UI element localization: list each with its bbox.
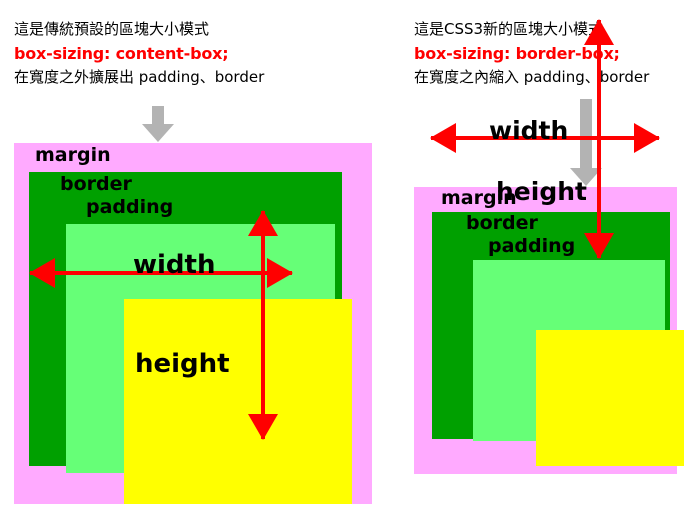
content-area xyxy=(124,299,352,504)
border-area xyxy=(29,172,342,466)
arrow-head-right xyxy=(634,123,660,153)
padding-area xyxy=(473,260,665,441)
arrow-head-left xyxy=(430,123,456,153)
padding-label: padding xyxy=(488,237,575,256)
caption-line-3: 在寬度之外擴展出 padding、border xyxy=(14,66,264,89)
border-box-panel: 這是CSS3新的區塊大小模式 box-sizing: border-box; 在… xyxy=(400,0,700,514)
content-box-panel: 這是傳統預設的區塊大小模式 box-sizing: content-box; 在… xyxy=(0,0,400,514)
width-label: width xyxy=(133,250,215,280)
margin-label: margin xyxy=(35,146,111,165)
arrow-head-down xyxy=(248,414,278,440)
caption-line-1: 這是傳統預設的區塊大小模式 xyxy=(14,18,264,41)
border-label: border xyxy=(466,214,538,233)
arrow-line xyxy=(261,211,265,439)
caption-content-box: 這是傳統預設的區塊大小模式 box-sizing: content-box; 在… xyxy=(14,18,264,89)
box-model-diagram-content-box: margin border padding xyxy=(14,143,372,504)
height-measure-arrow xyxy=(248,211,278,439)
arrow-head xyxy=(142,124,174,142)
arrow-head-up xyxy=(248,210,278,236)
content-area xyxy=(536,330,684,466)
border-label: border xyxy=(60,175,132,194)
arrow-head-up xyxy=(584,19,614,45)
height-label: height xyxy=(135,349,230,379)
box-model-diagram-border-box: margin border padding xyxy=(414,187,677,474)
height-label: height xyxy=(496,177,587,206)
box-sizing-illustration: { "left": { "caption": { "line1": "這是傳統預… xyxy=(0,0,700,514)
arrow-line xyxy=(597,20,601,258)
caption-code: box-sizing: content-box; xyxy=(14,41,264,66)
arrow-head-left xyxy=(29,258,55,288)
arrow-stem xyxy=(152,106,164,126)
padding-label: padding xyxy=(86,198,173,217)
height-measure-arrow xyxy=(584,20,614,258)
arrow-head-down xyxy=(584,233,614,259)
width-label: width xyxy=(489,116,568,145)
grey-down-arrow-icon xyxy=(140,106,176,142)
